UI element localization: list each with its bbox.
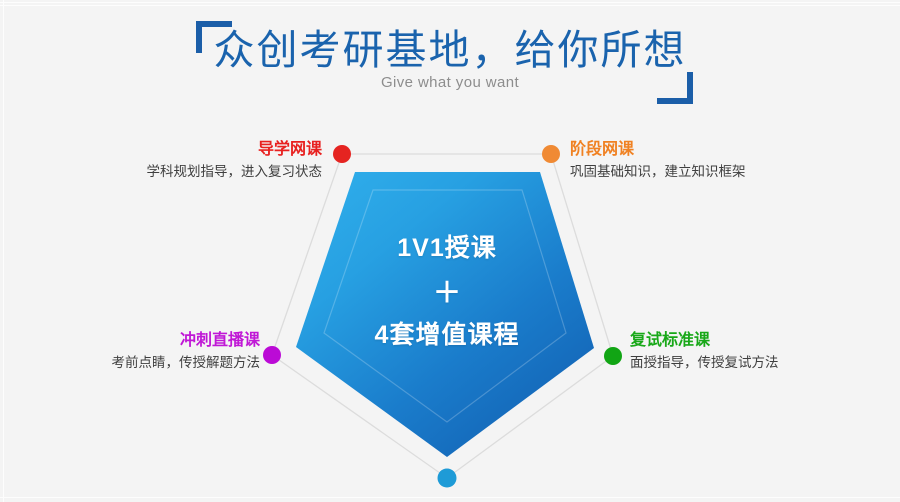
node-dot-bottom[interactable] [438,469,457,488]
center-subline: 4套增值课程 [322,323,572,348]
node-desc-fushi: 面授指导，传授复试方法 [630,355,890,372]
node-label-fushi[interactable]: 复试标准课 面授指导，传授复试方法 [630,331,890,372]
node-desc-daoxue: 学科规划指导，进入复习状态 [50,164,322,181]
node-dot-daoxue[interactable] [333,145,351,163]
node-label-chongci[interactable]: 冲刺直播课 考前点睛，传授解题方法 [20,331,260,372]
node-label-jieduan[interactable]: 阶段网课 巩固基础知识，建立知识框架 [570,140,870,181]
center-headline: 1V1授课 [322,236,572,261]
node-desc-chongci: 考前点睛，传授解题方法 [20,355,260,372]
node-title-fushi: 复试标准课 [630,331,890,351]
node-dot-jieduan[interactable] [542,145,560,163]
node-dot-fushi[interactable] [604,347,622,365]
center-plus-symbol: ＋ [322,279,572,307]
node-dot-chongci[interactable] [263,346,281,364]
node-title-daoxue: 导学网课 [50,140,322,160]
node-label-daoxue[interactable]: 导学网课 学科规划指导，进入复习状态 [50,140,322,181]
node-title-chongci: 冲刺直播课 [20,331,260,351]
node-desc-jieduan: 巩固基础知识，建立知识框架 [570,164,870,181]
pentagon-center-text: 1V1授课 ＋ 4套增值课程 [322,236,572,348]
node-title-jieduan: 阶段网课 [570,140,870,160]
